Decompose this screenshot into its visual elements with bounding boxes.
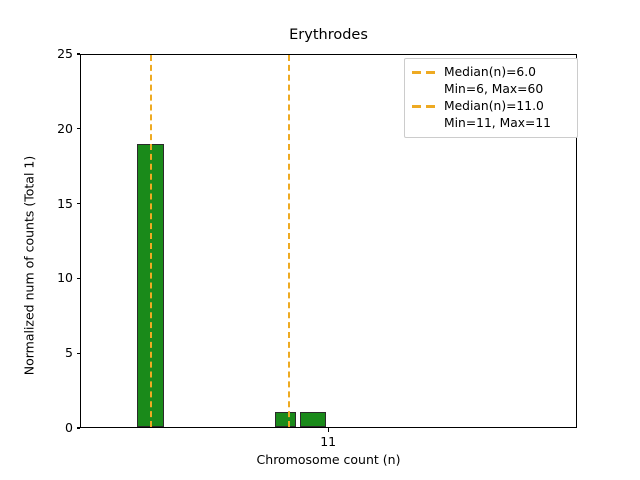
dashed-line-icon — [411, 64, 437, 80]
legend-entry-2: Median(n)=11.0 — [411, 98, 571, 114]
y-tick-label: 15 — [57, 196, 73, 212]
y-tick-label: 20 — [57, 121, 73, 137]
median-line-2 — [288, 55, 290, 427]
bar-11 — [275, 412, 296, 427]
chart-title: Erythrodes — [80, 28, 577, 43]
y-axis-label: Normalized num of counts (Total 1) — [22, 79, 37, 453]
chart-figure: Erythrodes 0 5 10 15 20 25 Normalized nu… — [0, 0, 640, 480]
legend: Median(n)=6.0 Min=6, Max=60 Median(n)=11… — [404, 58, 578, 138]
legend-label: Min=6, Max=60 — [444, 81, 543, 97]
x-axis-label: Chromosome count (n) — [80, 452, 577, 467]
y-tick-label: 0 — [65, 420, 73, 436]
y-tick-label: 5 — [65, 345, 73, 361]
median-line-1 — [150, 55, 152, 427]
legend-label: Min=11, Max=11 — [444, 115, 551, 131]
dashed-line-icon — [411, 98, 437, 114]
blank-swatch-icon — [411, 81, 437, 97]
x-tick-label: 11 — [320, 434, 336, 450]
blank-swatch-icon — [411, 115, 437, 131]
legend-label: Median(n)=11.0 — [444, 98, 544, 114]
legend-entry-3: Min=11, Max=11 — [411, 115, 571, 131]
bar-12 — [300, 412, 326, 427]
y-axis: 0 5 10 15 20 25 Normalized num of counts… — [0, 54, 80, 428]
x-tick-mark — [328, 428, 329, 432]
legend-entry-1: Min=6, Max=60 — [411, 81, 571, 97]
legend-entry-0: Median(n)=6.0 — [411, 64, 571, 80]
legend-label: Median(n)=6.0 — [444, 64, 536, 80]
y-tick-label: 10 — [57, 270, 73, 286]
y-tick-label: 25 — [57, 46, 73, 62]
